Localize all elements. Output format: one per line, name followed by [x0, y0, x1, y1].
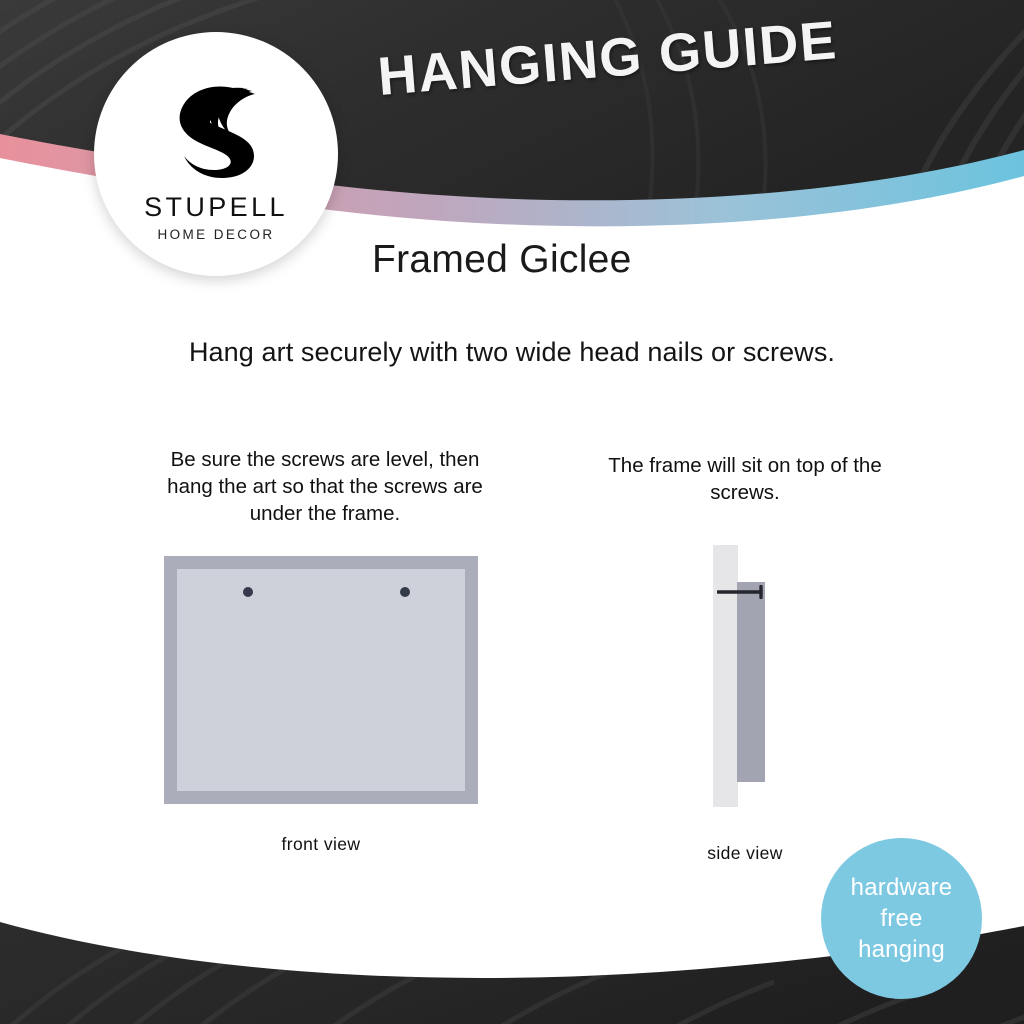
- brand-name: STUPELL: [144, 192, 288, 223]
- stupell-swoosh-logo-icon: [156, 66, 276, 186]
- front-view-label: front view: [164, 834, 478, 855]
- screw-dot-left: [243, 587, 253, 597]
- badge-line-1: hardware: [851, 872, 953, 903]
- brand-logo-badge: STUPELL HOME DECOR: [94, 32, 338, 276]
- brand-tagline: HOME DECOR: [157, 227, 274, 242]
- side-view-caption: The frame will sit on top of the screws.: [590, 452, 900, 506]
- hardware-free-badge: hardware free hanging: [821, 838, 982, 999]
- hanging-guide-page: STUPELL HOME DECOR HANGING GUIDE Framed …: [0, 0, 1024, 1024]
- side-view-frame: [737, 582, 765, 782]
- product-type-title: Framed Giclee: [372, 238, 632, 282]
- side-view-diagram: [700, 545, 790, 807]
- badge-line-3: hanging: [858, 934, 945, 965]
- lead-instruction: Hang art securely with two wide head nai…: [0, 337, 1024, 368]
- front-view-caption: Be sure the screws are level, then hang …: [160, 446, 490, 527]
- screw-dot-right: [400, 587, 410, 597]
- side-view-label: side view: [655, 843, 835, 864]
- front-view-diagram: [164, 556, 478, 804]
- badge-line-2: free: [880, 903, 922, 934]
- nail-icon: [717, 585, 770, 599]
- front-view-mat: [177, 569, 465, 791]
